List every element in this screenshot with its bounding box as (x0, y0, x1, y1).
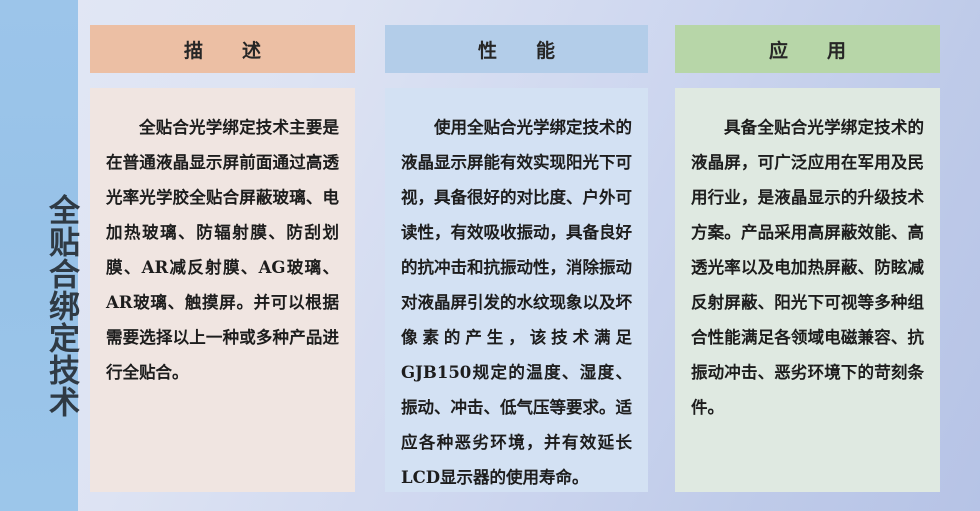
sidebar-title-container: 全贴合绑定技术 (0, 78, 78, 378)
column-application-header-label: 应 用 (759, 36, 856, 63)
column-application-body: 具备全贴合光学绑定技术的液晶屏，可广泛应用在军用及民用行业，是液晶显示的升级技术… (675, 88, 940, 492)
column-description-header: 描 述 (90, 25, 355, 73)
sidebar-title-bar: 全贴合绑定技术 (0, 0, 78, 511)
column-description-body-text: 全贴合光学绑定技术主要是在普通液晶显示屏前面通过高透光率光学胶全贴合屏蔽玻璃、电… (106, 110, 339, 390)
column-performance-body-text: 使用全贴合光学绑定技术的液晶显示屏能有效实现阳光下可视，具备很好的对比度、户外可… (401, 110, 632, 495)
column-application-header: 应 用 (675, 25, 940, 73)
column-performance-header: 性 能 (385, 25, 648, 73)
column-performance-body: 使用全贴合光学绑定技术的液晶显示屏能有效实现阳光下可视，具备很好的对比度、户外可… (385, 88, 648, 492)
column-description-body: 全贴合光学绑定技术主要是在普通液晶显示屏前面通过高透光率光学胶全贴合屏蔽玻璃、电… (90, 88, 355, 492)
column-description-header-label: 描 述 (174, 36, 271, 63)
column-description: 描 述 全贴合光学绑定技术主要是在普通液晶显示屏前面通过高透光率光学胶全贴合屏蔽… (90, 0, 355, 511)
sidebar-title-text: 全贴合绑定技术 (0, 156, 78, 456)
column-performance-header-label: 性 能 (468, 36, 565, 63)
slide-canvas: 全贴合绑定技术 描 述 全贴合光学绑定技术主要是在普通液晶显示屏前面通过高透光率… (0, 0, 980, 511)
column-application-body-text: 具备全贴合光学绑定技术的液晶屏，可广泛应用在军用及民用行业，是液晶显示的升级技术… (691, 110, 924, 425)
columns-container: 描 述 全贴合光学绑定技术主要是在普通液晶显示屏前面通过高透光率光学胶全贴合屏蔽… (90, 0, 980, 511)
column-application: 应 用 具备全贴合光学绑定技术的液晶屏，可广泛应用在军用及民用行业，是液晶显示的… (675, 0, 940, 511)
column-performance: 性 能 使用全贴合光学绑定技术的液晶显示屏能有效实现阳光下可视，具备很好的对比度… (385, 0, 648, 511)
